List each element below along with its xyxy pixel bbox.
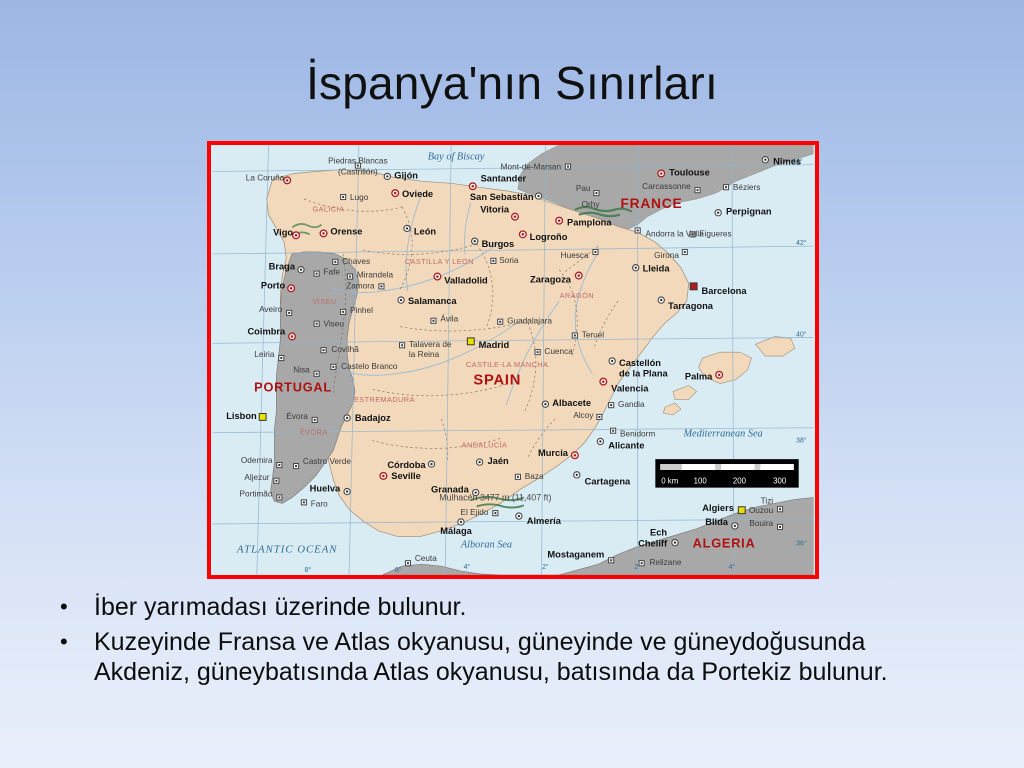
city-label: Tizi: [761, 496, 774, 505]
town-marker-dot: [567, 166, 569, 168]
city-marker-dot: [674, 541, 676, 543]
city-label: Benidorm: [620, 430, 655, 439]
town-marker-dot: [779, 508, 781, 510]
map-city: La Coruña: [246, 173, 291, 183]
city-label-sub: de la Plana: [619, 369, 668, 379]
city-label: Madrid: [479, 340, 510, 350]
city-label: Girona: [654, 251, 679, 260]
city-label: Cuenca: [544, 347, 573, 356]
city-label: Huesca: [561, 251, 589, 260]
map-city: Orhy: [582, 200, 601, 209]
city-label: Pinhel: [350, 306, 373, 315]
city-marker-dot: [544, 403, 546, 405]
city-label: Braga: [269, 262, 296, 272]
town-marker-dot: [316, 323, 318, 325]
town-marker-dot: [316, 373, 318, 375]
capital-marker: [738, 507, 745, 514]
town-marker-dot: [537, 351, 539, 353]
city-label: Zaragoza: [530, 274, 572, 284]
city-marker-dot: [718, 373, 721, 376]
city-label: Córdoba: [387, 460, 426, 470]
city-marker-dot: [386, 175, 388, 177]
map-city: Andorra la Vella: [635, 228, 704, 238]
city-label: Castro Verde: [303, 457, 351, 466]
city-marker-dot: [635, 267, 637, 269]
city-marker-dot: [660, 299, 662, 301]
city-label: Ávila: [440, 314, 458, 324]
city-marker-dot: [576, 474, 578, 476]
city-marker-dot: [599, 440, 601, 442]
capital-marker: [259, 414, 266, 421]
town-marker-dot: [432, 320, 434, 322]
city-marker-dot: [430, 463, 432, 465]
lat-label-38: 38°: [796, 436, 807, 444]
lon-label-2: 2°: [542, 563, 549, 571]
city-label: Cartagena: [585, 477, 631, 487]
city-marker-dot: [400, 299, 402, 301]
city-label: Castellón: [619, 358, 661, 368]
town-marker-dot: [499, 321, 501, 323]
city-label: Porto: [261, 280, 286, 290]
city-marker-dot: [460, 521, 462, 523]
city-label: Almería: [527, 516, 562, 526]
city-marker-dot: [394, 192, 397, 195]
city-label: Ceuta: [415, 554, 437, 563]
town-marker-dot: [517, 476, 519, 478]
bullet-marker: •: [60, 627, 94, 656]
city-label: Alcoy: [573, 411, 594, 420]
city-label: Santander: [481, 173, 527, 183]
city-marker-dot: [436, 275, 439, 278]
town-marker-dot: [725, 186, 727, 188]
town-marker-dot: [278, 496, 280, 498]
city-marker-dot: [322, 232, 325, 235]
city-label: Mont-de-Marsan: [501, 163, 562, 172]
town-marker-dot: [595, 192, 597, 194]
city-label: Zamora: [346, 281, 375, 290]
city-label: Chaves: [342, 257, 370, 266]
city-marker-dot: [734, 525, 736, 527]
city-marker-dot: [764, 159, 766, 161]
lon-label-8: 8°: [305, 566, 312, 574]
city-marker-dot: [611, 360, 613, 362]
city-marker-dot: [346, 417, 348, 419]
city-label: Logroño: [530, 232, 568, 242]
city-label: Soria: [499, 256, 519, 265]
city-label: Toulouse: [669, 167, 710, 177]
city-label: Barcelona: [701, 286, 747, 296]
city-label: Portimão: [240, 489, 273, 498]
city-marker-dot: [471, 185, 474, 188]
town-marker-dot: [342, 311, 344, 313]
city-label: Gandia: [618, 400, 645, 409]
water-label: Bay of Biscay: [428, 152, 485, 163]
city-label: León: [414, 226, 437, 236]
city-label-sub: Cheliff: [638, 539, 668, 549]
city-label: Huelva: [310, 484, 341, 494]
city-marker-dot: [474, 240, 476, 242]
slide: İspanya'nın Sınırları: [0, 0, 1024, 768]
city-label: Vigo: [273, 227, 293, 237]
scale-label-100: 100: [694, 477, 708, 486]
town-marker-dot: [612, 430, 614, 432]
city-label: Fafe: [324, 268, 341, 277]
town-marker-dot: [314, 419, 316, 421]
town-marker-dot: [288, 312, 290, 314]
city-marker-dot: [300, 269, 302, 271]
city-label: Seville: [391, 471, 421, 481]
city-marker-dot: [660, 172, 663, 175]
city-label: Orhy: [582, 200, 601, 209]
region-label: ARAGÓN: [560, 291, 594, 300]
region-label: CASTILE-LA MANCHA: [466, 360, 548, 369]
town-marker-dot: [779, 526, 781, 528]
city-label: Pau: [576, 184, 591, 193]
town-marker-dot: [401, 344, 403, 346]
page-title: İspanya'nın Sınırları: [0, 58, 1024, 109]
lon-label-4e: 4°: [729, 563, 736, 571]
city-label: Figueres: [700, 229, 732, 238]
city-label: Tarragona: [668, 301, 714, 311]
scale-label-0: 0 km: [661, 477, 678, 486]
region-label: ANDALUCÍA: [462, 440, 508, 449]
city-marker: [690, 283, 697, 290]
city-label-sub: Ouzou: [749, 506, 774, 515]
city-label: Viseu: [324, 320, 345, 329]
city-label: Coimbra: [247, 326, 286, 336]
city-label: Évora: [286, 411, 308, 421]
region-label: VISEU: [312, 297, 336, 306]
city-label: Pamplona: [567, 218, 612, 228]
town-marker-dot: [280, 357, 282, 359]
city-label: Valladolid: [444, 275, 488, 285]
town-marker-dot: [684, 251, 686, 253]
region-label: GALICIA: [313, 205, 345, 214]
map-city: San Sebastián: [470, 192, 542, 202]
city-label: Leiria: [254, 350, 275, 359]
city-marker-dot: [574, 454, 577, 457]
city-label: Carcassonne: [642, 182, 691, 191]
town-marker-dot: [637, 229, 639, 231]
city-marker-dot: [478, 461, 480, 463]
city-label: Nisa: [293, 366, 310, 375]
bullet-marker: •: [60, 592, 94, 621]
town-marker-dot: [574, 334, 576, 336]
region-label: CASTILLA Y LEÓN: [405, 257, 474, 266]
list-item: • Kuzeyinde Fransa ve Atlas okyanusu, gü…: [60, 627, 960, 688]
town-marker-dot: [380, 285, 382, 287]
lon-label-6: 6°: [395, 566, 402, 574]
town-marker-dot: [323, 349, 325, 351]
city-marker-dot: [346, 490, 348, 492]
region-label: ESTREMADURA: [354, 395, 415, 404]
capital-marker: [467, 338, 474, 345]
water-label: ATLANTIC OCEAN: [236, 543, 338, 555]
city-label: La Coruña: [246, 173, 285, 182]
city-label: Ech: [650, 528, 667, 538]
town-marker-dot: [278, 464, 280, 466]
city-label: Mirandela: [357, 271, 394, 280]
city-label-sub: la Reina: [409, 350, 440, 359]
town-marker-dot: [697, 189, 699, 191]
country-label: PORTUGAL: [254, 379, 332, 394]
city-label: Jaén: [487, 456, 509, 466]
bullet-text: Kuzeyinde Fransa ve Atlas okyanusu, güne…: [94, 627, 960, 688]
bullet-text: İber yarımadası üzerinde bulunur.: [94, 592, 960, 623]
scale-label-200: 200: [733, 477, 747, 486]
city-label: Burgos: [482, 239, 515, 249]
city-label: Lisbon: [226, 411, 257, 421]
town-marker-dot: [349, 276, 351, 278]
town-marker-dot: [275, 480, 277, 482]
city-label: Baza: [525, 472, 544, 481]
city-marker-dot: [382, 475, 385, 478]
town-marker-dot: [316, 273, 318, 275]
city-label: Vitoria: [480, 205, 510, 215]
town-marker-dot: [303, 501, 305, 503]
city-marker-dot: [475, 491, 477, 493]
city-label: Alicante: [608, 440, 644, 450]
map-svg: 44° 42° 40° 38° 36° 8° 6° 4° 2° 2° 4°: [211, 145, 815, 575]
city-label: Algiers: [702, 503, 734, 513]
city-label: Guadalajara: [507, 317, 552, 326]
city-label: Bouira: [749, 519, 773, 528]
city-label: Badajoz: [355, 413, 391, 423]
city-label: San Sebastián: [470, 192, 534, 202]
city-marker-dot: [558, 219, 561, 222]
city-marker-dot: [286, 179, 289, 182]
bullet-list: • İber yarımadası üzerinde bulunur. • Ku…: [60, 592, 960, 692]
country-label: ALGERIA: [693, 536, 756, 551]
town-marker-dot: [610, 559, 612, 561]
city-label-sub: (Castrillón): [338, 167, 378, 176]
city-label: Málaga: [440, 526, 472, 536]
city-label: Albacete: [552, 398, 591, 408]
city-label: Aveiro: [259, 305, 283, 314]
city-marker-dot: [406, 227, 408, 229]
country-label: SPAIN: [473, 373, 521, 389]
map-city: Castelo Branco: [331, 362, 398, 371]
city-marker-dot: [522, 233, 525, 236]
city-label: Aljezur: [244, 473, 269, 482]
city-marker-dot: [602, 380, 605, 383]
lat-label-40: 40°: [796, 330, 807, 338]
city-marker-dot: [290, 287, 293, 290]
city-label: Béziers: [733, 183, 760, 192]
water-label: Mediterranean Sea: [682, 429, 762, 440]
city-label: Lugo: [350, 193, 369, 202]
city-label: Faro: [311, 499, 328, 508]
scale-label-300: 300: [773, 477, 787, 486]
city-label: Perpignan: [726, 207, 772, 217]
town-marker-dot: [295, 465, 297, 467]
city-label: Granada: [431, 485, 470, 495]
city-label: Relizane: [649, 558, 681, 567]
city-label: Nîmes: [773, 157, 801, 167]
town-marker-dot: [610, 404, 612, 406]
town-marker-dot: [342, 196, 344, 198]
city-label: Odemira: [241, 456, 273, 465]
town-marker-dot: [492, 260, 494, 262]
water-label: Alboran Sea: [460, 540, 512, 551]
lon-label-4: 4°: [464, 563, 471, 571]
city-marker-dot: [537, 195, 539, 197]
city-marker-dot: [717, 212, 719, 214]
city-label: Valencia: [611, 383, 649, 393]
city-label: Covilhã: [331, 345, 359, 354]
town-marker-dot: [407, 562, 409, 564]
town-marker-dot: [494, 512, 496, 514]
country-label: FRANCE: [620, 196, 682, 211]
town-marker-dot: [332, 366, 334, 368]
city-marker-dot: [295, 234, 298, 237]
lat-label-42: 42°: [796, 239, 807, 247]
city-label: Salamanca: [408, 296, 457, 306]
city-label: Piedras Blancas: [328, 157, 388, 166]
city-label: Teruel: [582, 330, 605, 339]
city-label: El Ejido: [461, 508, 489, 517]
list-item: • İber yarımadası üzerinde bulunur.: [60, 592, 960, 623]
city-marker-dot: [291, 335, 294, 338]
city-marker-dot: [578, 274, 581, 277]
region-label: ÉVORA: [300, 428, 328, 437]
city-label: Blida: [705, 517, 729, 527]
city-marker-dot: [518, 515, 520, 517]
city-label: Andorra la Vella: [646, 229, 705, 238]
city-label: Mostaganem: [547, 549, 604, 559]
city-label: Lleida: [643, 264, 671, 274]
city-marker-dot: [514, 215, 517, 218]
city-label: Talavera de: [409, 340, 452, 349]
map-city: Mont-de-Marsan: [501, 163, 571, 172]
lat-label-36: 36°: [796, 540, 807, 548]
city-label: Murcia: [538, 448, 569, 458]
scale-bar: 0 km 100 200 300: [655, 459, 798, 487]
town-marker-dot: [598, 416, 600, 418]
city-label: Gijón: [394, 170, 418, 180]
town-marker-dot: [594, 251, 596, 253]
town-marker-dot: [334, 261, 336, 263]
city-label: Castelo Branco: [341, 362, 398, 371]
map-image: 44° 42° 40° 38° 36° 8° 6° 4° 2° 2° 4°: [207, 141, 819, 579]
city-label: Orense: [330, 226, 362, 236]
city-label: Palma: [685, 372, 713, 382]
town-marker-dot: [641, 562, 643, 564]
city-label: Oviede: [402, 189, 433, 199]
